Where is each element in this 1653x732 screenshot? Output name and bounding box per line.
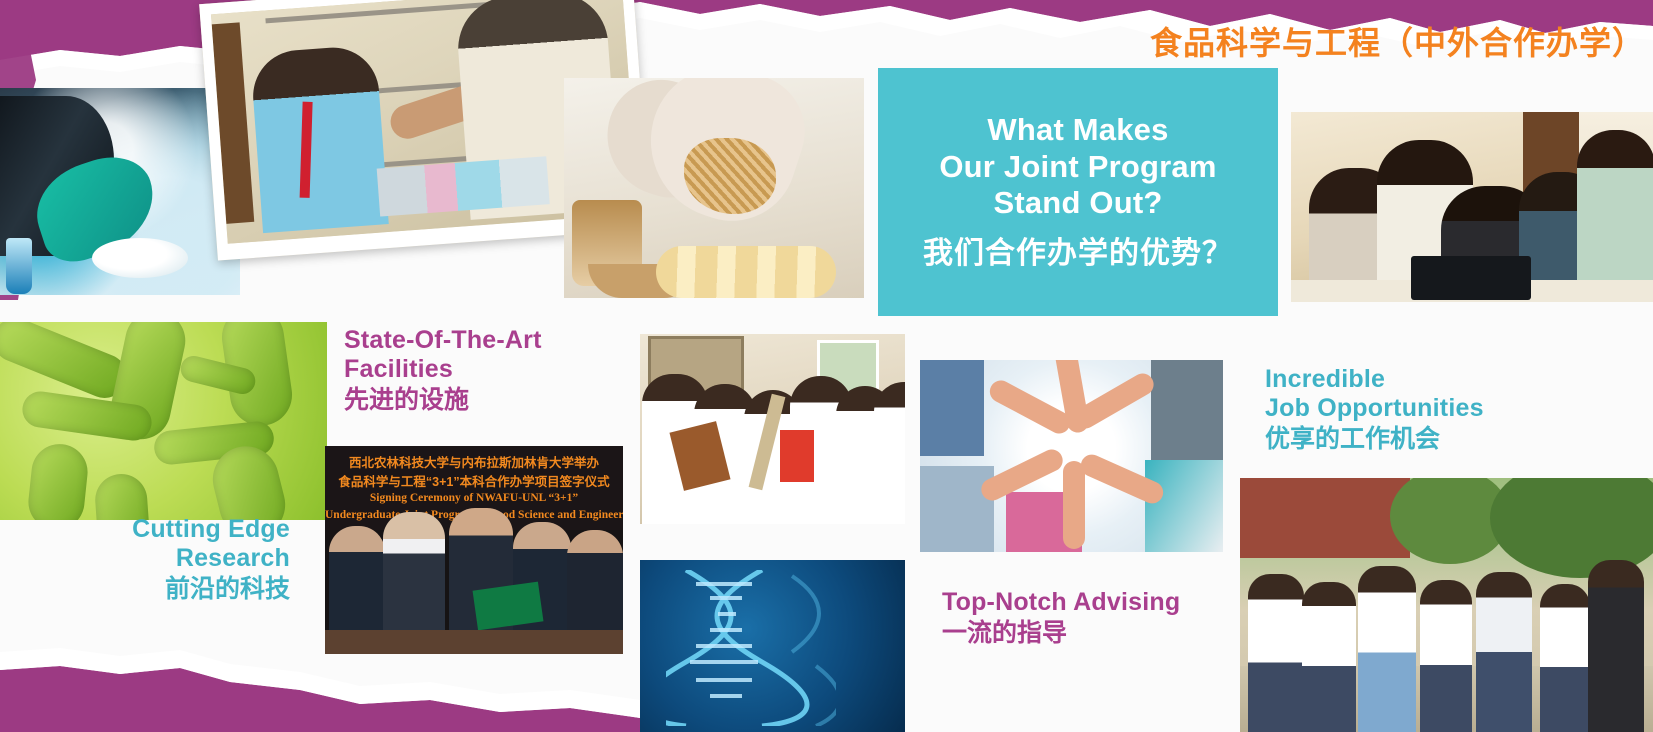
student-figure xyxy=(1577,130,1653,302)
banner-line-3: Signing Ceremony of NWAFU-UNL “3+1” xyxy=(325,492,623,504)
photo-friends-circle xyxy=(920,360,1223,552)
student-figure xyxy=(874,382,905,524)
delegate-figure xyxy=(567,530,623,634)
photo-students-lab-coats xyxy=(640,334,905,524)
student-figure xyxy=(1476,572,1532,732)
student-figure xyxy=(1420,580,1472,732)
poster-canvas: 西北农林科技大学与内布拉斯加林肯大学举办 食品科学与工程“3+1”本科合作办学项… xyxy=(0,0,1653,732)
headline-line-1: What Makes xyxy=(987,112,1168,149)
feature-label-facilities: State-Of-The-Art Facilities 先进的设施 xyxy=(344,326,542,415)
student-figure xyxy=(1358,566,1416,732)
feature-cn: 一流的指导 xyxy=(942,619,1180,648)
feature-en-line-2: Job Opportunities xyxy=(1265,394,1484,423)
photo-campus-walk xyxy=(1240,478,1653,732)
poster-title: 食品科学与工程（中外合作办学） xyxy=(1150,18,1645,64)
feature-en-line-1: Incredible xyxy=(1265,365,1484,394)
photo-dna-helix xyxy=(640,560,905,732)
headline-line-cn: 我们合作办学的优势？ xyxy=(923,228,1233,272)
photo-bacteria-microscopy xyxy=(0,322,327,520)
banner-line-2: 食品科学与工程“3+1”本科合作办学项目签字仪式 xyxy=(325,471,623,490)
feature-en-line-2: Research xyxy=(40,544,290,573)
photo-microscope xyxy=(0,88,240,295)
person-body xyxy=(1145,460,1223,552)
table-shape xyxy=(325,630,623,654)
test-tube-shape xyxy=(6,238,32,294)
student-figure xyxy=(1540,584,1590,732)
student-figure xyxy=(250,44,389,233)
feature-label-advising: Top-Notch Advising 一流的指导 xyxy=(942,588,1180,648)
student-figure xyxy=(1248,574,1304,732)
feature-cn: 前沿的科技 xyxy=(40,575,290,604)
petri-dish-shape xyxy=(92,238,188,278)
person-body xyxy=(920,360,984,456)
feature-en-line-1: State-Of-The-Art xyxy=(344,326,542,355)
laptop-shape xyxy=(1411,256,1531,300)
food-slices-shape xyxy=(656,246,836,298)
headline-card: What Makes Our Joint Program Stand Out? … xyxy=(878,68,1278,316)
feature-cn: 先进的设施 xyxy=(344,386,542,415)
person-body xyxy=(920,466,994,552)
photo-computer-lab xyxy=(1291,112,1653,302)
feature-en-line-2: Facilities xyxy=(344,355,542,384)
feature-label-jobs: Incredible Job Opportunities 优享的工作机会 xyxy=(1265,365,1484,454)
student-figure xyxy=(1588,560,1644,732)
headline-line-3: Stand Out? xyxy=(993,185,1162,222)
delegate-figure xyxy=(383,512,445,634)
bacteria-rod xyxy=(26,441,91,520)
feature-en-line-1: Top-Notch Advising xyxy=(942,588,1180,617)
feature-label-research: Cutting Edge Research 前沿的科技 xyxy=(40,515,290,604)
dna-helix-graphic xyxy=(666,570,836,726)
feature-cn: 优享的工作机会 xyxy=(1265,425,1484,454)
red-folder-shape xyxy=(780,430,814,482)
bacteria-rod xyxy=(93,472,150,520)
lanyard-shape xyxy=(300,102,313,198)
feature-en-line-1: Cutting Edge xyxy=(40,515,290,544)
delegate-figure xyxy=(329,526,385,634)
banner-line-1: 西北农林科技大学与内布拉斯加林肯大学举办 xyxy=(325,452,623,471)
building-shape xyxy=(1240,478,1410,558)
student-figure xyxy=(1302,582,1356,732)
photo-signing-ceremony: 西北农林科技大学与内布拉斯加林肯大学举办 食品科学与工程“3+1”本科合作办学项… xyxy=(325,446,623,654)
arm-shape xyxy=(1063,461,1085,549)
person-body xyxy=(1151,360,1223,464)
headline-line-2: Our Joint Program xyxy=(939,149,1216,186)
photo-food-samples xyxy=(564,78,864,298)
